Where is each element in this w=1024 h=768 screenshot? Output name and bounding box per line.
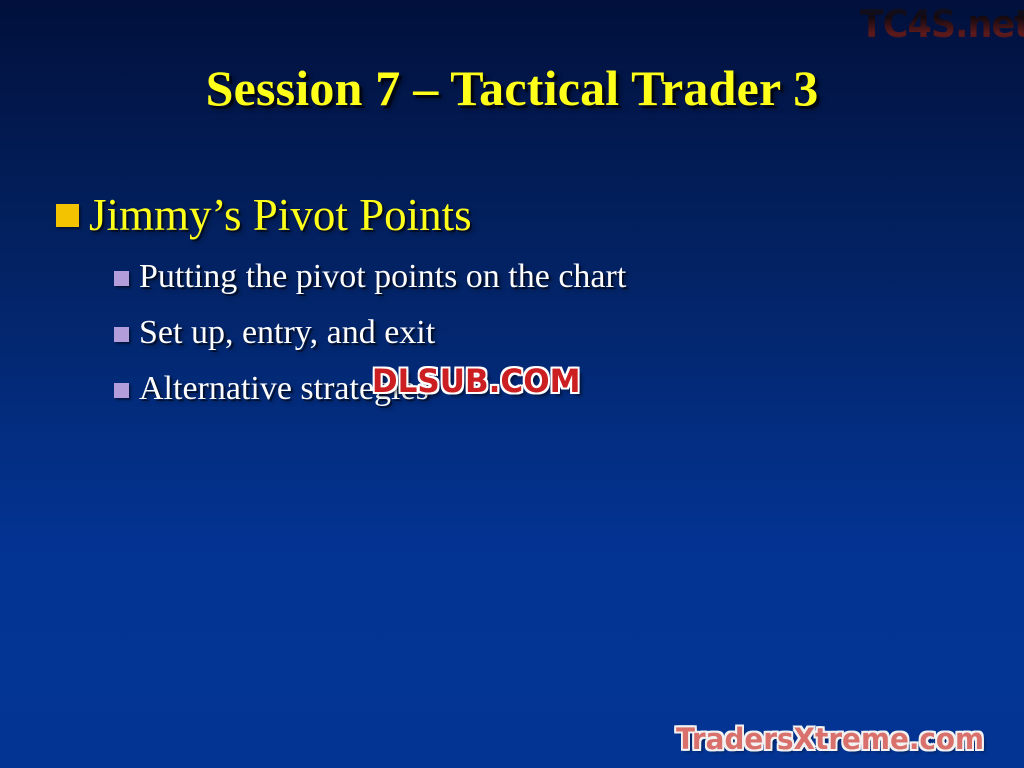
watermark-tradersxtreme: TradersXtreme.com	[676, 722, 984, 756]
page-title: Session 7 – Tactical Trader 3	[60, 58, 964, 118]
bullet-item-label: Putting the pivot points on the chart	[139, 255, 626, 299]
slide-title-placeholder: Session 7 – Tactical Trader 3	[60, 58, 964, 118]
bullet-item-level1: Jimmy’s Pivot Points	[56, 188, 976, 243]
bullet-item-level2: Putting the pivot points on the chart	[114, 255, 976, 299]
bullet-item-label: Alternative strategies	[139, 367, 429, 411]
square-bullet-icon	[114, 383, 129, 398]
square-bullet-icon	[56, 204, 79, 227]
square-bullet-icon	[114, 271, 129, 286]
bullet-item-label: Set up, entry, and exit	[139, 311, 435, 355]
watermark-tc4s: TC4S.net	[860, 2, 1024, 46]
bullet-item-label: Jimmy’s Pivot Points	[89, 188, 472, 243]
bullet-item-level2: Set up, entry, and exit	[114, 311, 976, 355]
presentation-slide: Session 7 – Tactical Trader 3 Jimmy’s Pi…	[0, 0, 1024, 768]
square-bullet-icon	[114, 327, 129, 342]
slide-body-placeholder: Jimmy’s Pivot Points Putting the pivot p…	[56, 188, 976, 423]
bullet-item-level2: Alternative strategies	[114, 367, 976, 411]
